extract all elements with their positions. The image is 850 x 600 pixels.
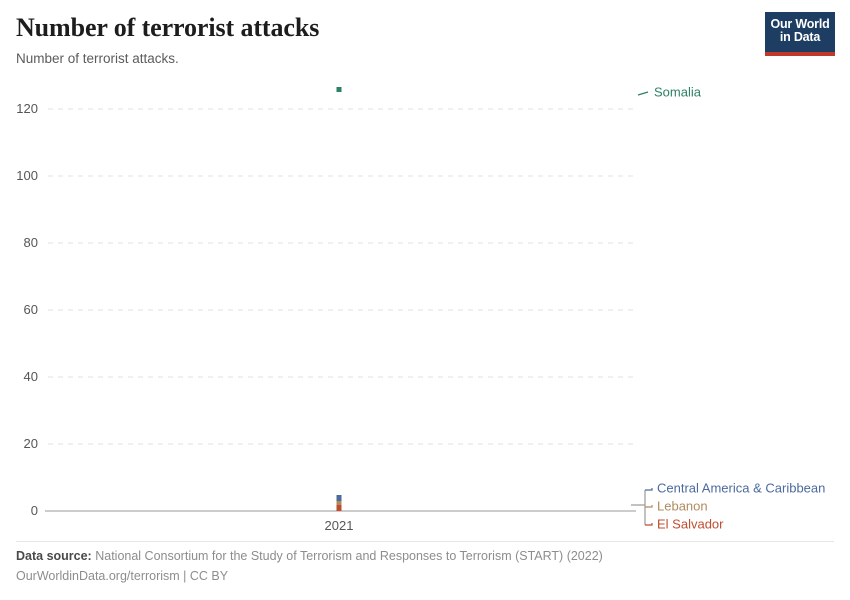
chart-footer: Data source: National Consortium for the…	[16, 547, 816, 586]
data-points	[337, 87, 342, 511]
chart-subtitle: Number of terrorist attacks.	[16, 50, 756, 68]
legend-connector-somalia	[638, 92, 648, 95]
chart-container: Number of terrorist attacks Number of te…	[0, 0, 850, 600]
data-point-el-salvador[interactable]	[337, 505, 342, 511]
logo-line-1: Our World	[770, 18, 829, 32]
y-tick-label: 80	[24, 235, 38, 250]
y-tick-label: 120	[16, 101, 38, 116]
legend-label-el-salvador: El Salvador	[657, 516, 724, 531]
chart-header: Number of terrorist attacks Number of te…	[16, 12, 756, 68]
legend-label-central-america-caribbean: Central America & Caribbean	[657, 480, 825, 495]
y-tick-label: 60	[24, 302, 38, 317]
y-tick-label: 100	[16, 168, 38, 183]
logo-line-2: in Data	[780, 31, 820, 45]
data-source-line: Data source: National Consortium for the…	[16, 547, 816, 566]
owid-link-line[interactable]: OurWorldinData.org/terrorism | CC BY	[16, 567, 816, 586]
plot-area: 120 100 80 60 40 20 0 2021	[0, 70, 850, 540]
legend-entry-central-america-caribbean[interactable]: Central America & Caribbean	[657, 480, 825, 495]
legend-entry-lebanon[interactable]: Lebanon	[657, 498, 708, 513]
legend-entry-el-salvador[interactable]: El Salvador	[657, 516, 724, 531]
legend-label-lebanon: Lebanon	[657, 498, 708, 513]
y-tick-label: 0	[31, 503, 38, 518]
footer-divider	[16, 541, 834, 542]
x-tick-label-2021: 2021	[325, 518, 354, 533]
data-source-label: Data source:	[16, 549, 92, 563]
y-tick-label: 40	[24, 369, 38, 384]
page-title: Number of terrorist attacks	[16, 12, 756, 44]
y-axis-tick-labels: 120 100 80 60 40 20 0	[16, 101, 38, 518]
y-gridlines	[48, 109, 636, 444]
our-world-in-data-logo[interactable]: Our World in Data	[765, 12, 835, 56]
data-point-somalia[interactable]	[337, 87, 342, 92]
legend-entry-somalia[interactable]: Somalia	[638, 84, 702, 99]
data-source-text: National Consortium for the Study of Ter…	[95, 549, 603, 563]
legend-label-somalia: Somalia	[654, 84, 702, 99]
y-tick-label: 20	[24, 436, 38, 451]
legend-bracket-connector	[631, 488, 652, 525]
data-point-central-america-caribbean[interactable]	[337, 495, 342, 501]
